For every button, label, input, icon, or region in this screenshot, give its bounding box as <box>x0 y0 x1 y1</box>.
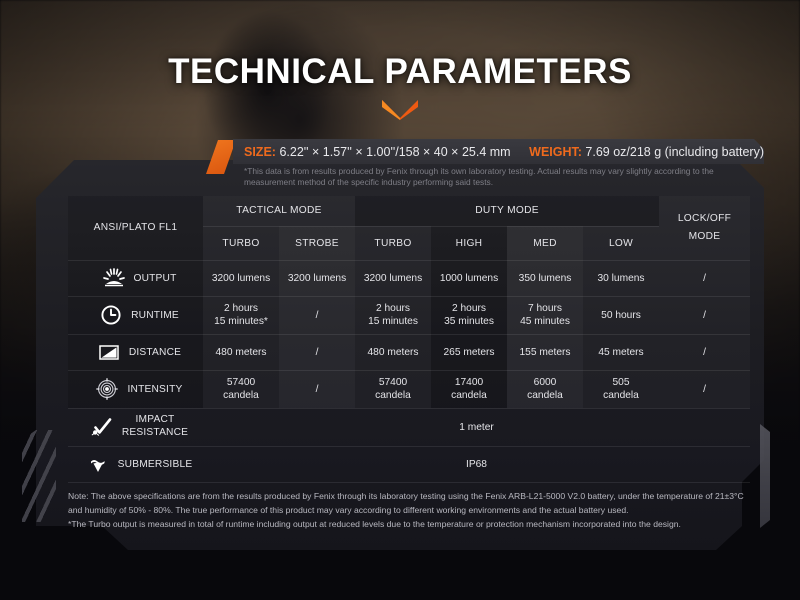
cell-runtime-lockoff: / <box>659 296 750 334</box>
row-label-submersible: SUBMERSIBLE <box>68 446 203 482</box>
target-icon <box>96 378 120 400</box>
cell-submersible-value: IP68 <box>203 446 750 482</box>
subheader-duty-low: LOW <box>583 226 659 260</box>
corner-header: ANSI/PLATO FL1 <box>68 196 203 260</box>
size-value: 6.22'' × 1.57'' × 1.00''/158 × 40 × 25.4… <box>279 145 510 159</box>
subheader-duty-med: MED <box>507 226 583 260</box>
panel-slash-decoration <box>22 430 56 522</box>
technical-parameters-table: ANSI/PLATO FL1 TACTICAL MODE DUTY MODE L… <box>68 196 750 483</box>
clock-icon <box>100 304 124 326</box>
row-label-text: IMPACTRESISTANCE <box>122 414 188 440</box>
table-row: SUBMERSIBLE IP68 <box>68 446 750 482</box>
row-label-text: INTENSITY <box>127 384 182 395</box>
table-row: IMPACTRESISTANCE 1 meter <box>68 408 750 446</box>
cell-distance-duty-low: 45 meters <box>583 334 659 370</box>
page-title: TECHNICAL PARAMETERS <box>0 52 800 92</box>
table-row: RUNTIME 2 hours15 minutes* / 2 hours15 m… <box>68 296 750 334</box>
cell-impact-resistance-value: 1 meter <box>203 408 750 446</box>
cell-output-duty-low: 30 lumens <box>583 260 659 296</box>
cell-runtime-duty-low: 50 hours <box>583 296 659 334</box>
cell-intensity-duty-high: 17400candela <box>431 370 507 408</box>
weight-value: 7.69 oz/218 g (including battery) <box>585 145 764 159</box>
row-label-impact-resistance: IMPACTRESISTANCE <box>68 408 203 446</box>
row-label-distance: DISTANCE <box>68 334 203 370</box>
cell-intensity-tactical-turbo: 57400candela <box>203 370 279 408</box>
beam-icon <box>98 341 122 363</box>
lockoff-line1: LOCK/OFF <box>659 213 750 224</box>
cell-output-duty-med: 350 lumens <box>507 260 583 296</box>
group-header-lockoff: LOCK/OFF MODE <box>659 196 750 260</box>
cell-runtime-duty-med: 7 hours45 minutes <box>507 296 583 334</box>
cell-intensity-duty-turbo: 57400candela <box>355 370 431 408</box>
cell-distance-duty-high: 265 meters <box>431 334 507 370</box>
row-label-output: OUTPUT <box>68 260 203 296</box>
lockoff-line2: MODE <box>659 231 750 242</box>
cell-intensity-duty-med: 6000candela <box>507 370 583 408</box>
cell-runtime-tactical-turbo: 2 hours15 minutes* <box>203 296 279 334</box>
subheader-tactical-strobe: STROBE <box>279 226 355 260</box>
cell-runtime-duty-turbo: 2 hours15 minutes <box>355 296 431 334</box>
impact-check-icon <box>91 416 115 438</box>
row-label-text: SUBMERSIBLE <box>118 459 193 470</box>
group-header-tactical: TACTICAL MODE <box>203 196 355 226</box>
sunburst-icon <box>102 267 126 289</box>
cell-distance-duty-med: 155 meters <box>507 334 583 370</box>
cell-distance-duty-turbo: 480 meters <box>355 334 431 370</box>
cell-output-duty-turbo: 3200 lumens <box>355 260 431 296</box>
cell-runtime-duty-high: 2 hours35 minutes <box>431 296 507 334</box>
footnote: Note: The above specifications are from … <box>68 490 746 532</box>
cell-intensity-lockoff: / <box>659 370 750 408</box>
subheader-tactical-turbo: TURBO <box>203 226 279 260</box>
cell-output-tactical-turbo: 3200 lumens <box>203 260 279 296</box>
weight-label: WEIGHT: <box>529 145 582 159</box>
size-weight-bar: SIZE: 6.22'' × 1.57'' × 1.00''/158 × 40 … <box>233 139 764 164</box>
cell-runtime-tactical-strobe: / <box>279 296 355 334</box>
subheader-duty-high: HIGH <box>431 226 507 260</box>
table-row: OUTPUT 3200 lumens 3200 lumens 3200 lume… <box>68 260 750 296</box>
row-label-intensity: INTENSITY <box>68 370 203 408</box>
size-label: SIZE: <box>244 145 276 159</box>
chevron-down-icon <box>0 98 800 120</box>
row-label-runtime: RUNTIME <box>68 296 203 334</box>
cell-intensity-duty-low: 505candela <box>583 370 659 408</box>
subheader-duty-turbo: TURBO <box>355 226 431 260</box>
table-group-header-row: ANSI/PLATO FL1 TACTICAL MODE DUTY MODE L… <box>68 196 750 226</box>
table-row: INTENSITY 57400candela / 57400candela 17… <box>68 370 750 408</box>
table-row: DISTANCE 480 meters / 480 meters 265 met… <box>68 334 750 370</box>
specbar-disclaimer: *This data is from results produced by F… <box>244 166 744 188</box>
cell-distance-tactical-strobe: / <box>279 334 355 370</box>
cell-output-lockoff: / <box>659 260 750 296</box>
cell-distance-lockoff: / <box>659 334 750 370</box>
cell-distance-tactical-turbo: 480 meters <box>203 334 279 370</box>
panel-notch-decoration <box>760 424 770 528</box>
row-label-text: DISTANCE <box>129 347 181 358</box>
water-drop-icon <box>87 453 111 475</box>
row-label-text: RUNTIME <box>131 310 179 321</box>
cell-output-tactical-strobe: 3200 lumens <box>279 260 355 296</box>
cell-output-duty-high: 1000 lumens <box>431 260 507 296</box>
cell-intensity-tactical-strobe: / <box>279 370 355 408</box>
row-label-text: OUTPUT <box>133 273 176 284</box>
group-header-duty: DUTY MODE <box>355 196 659 226</box>
